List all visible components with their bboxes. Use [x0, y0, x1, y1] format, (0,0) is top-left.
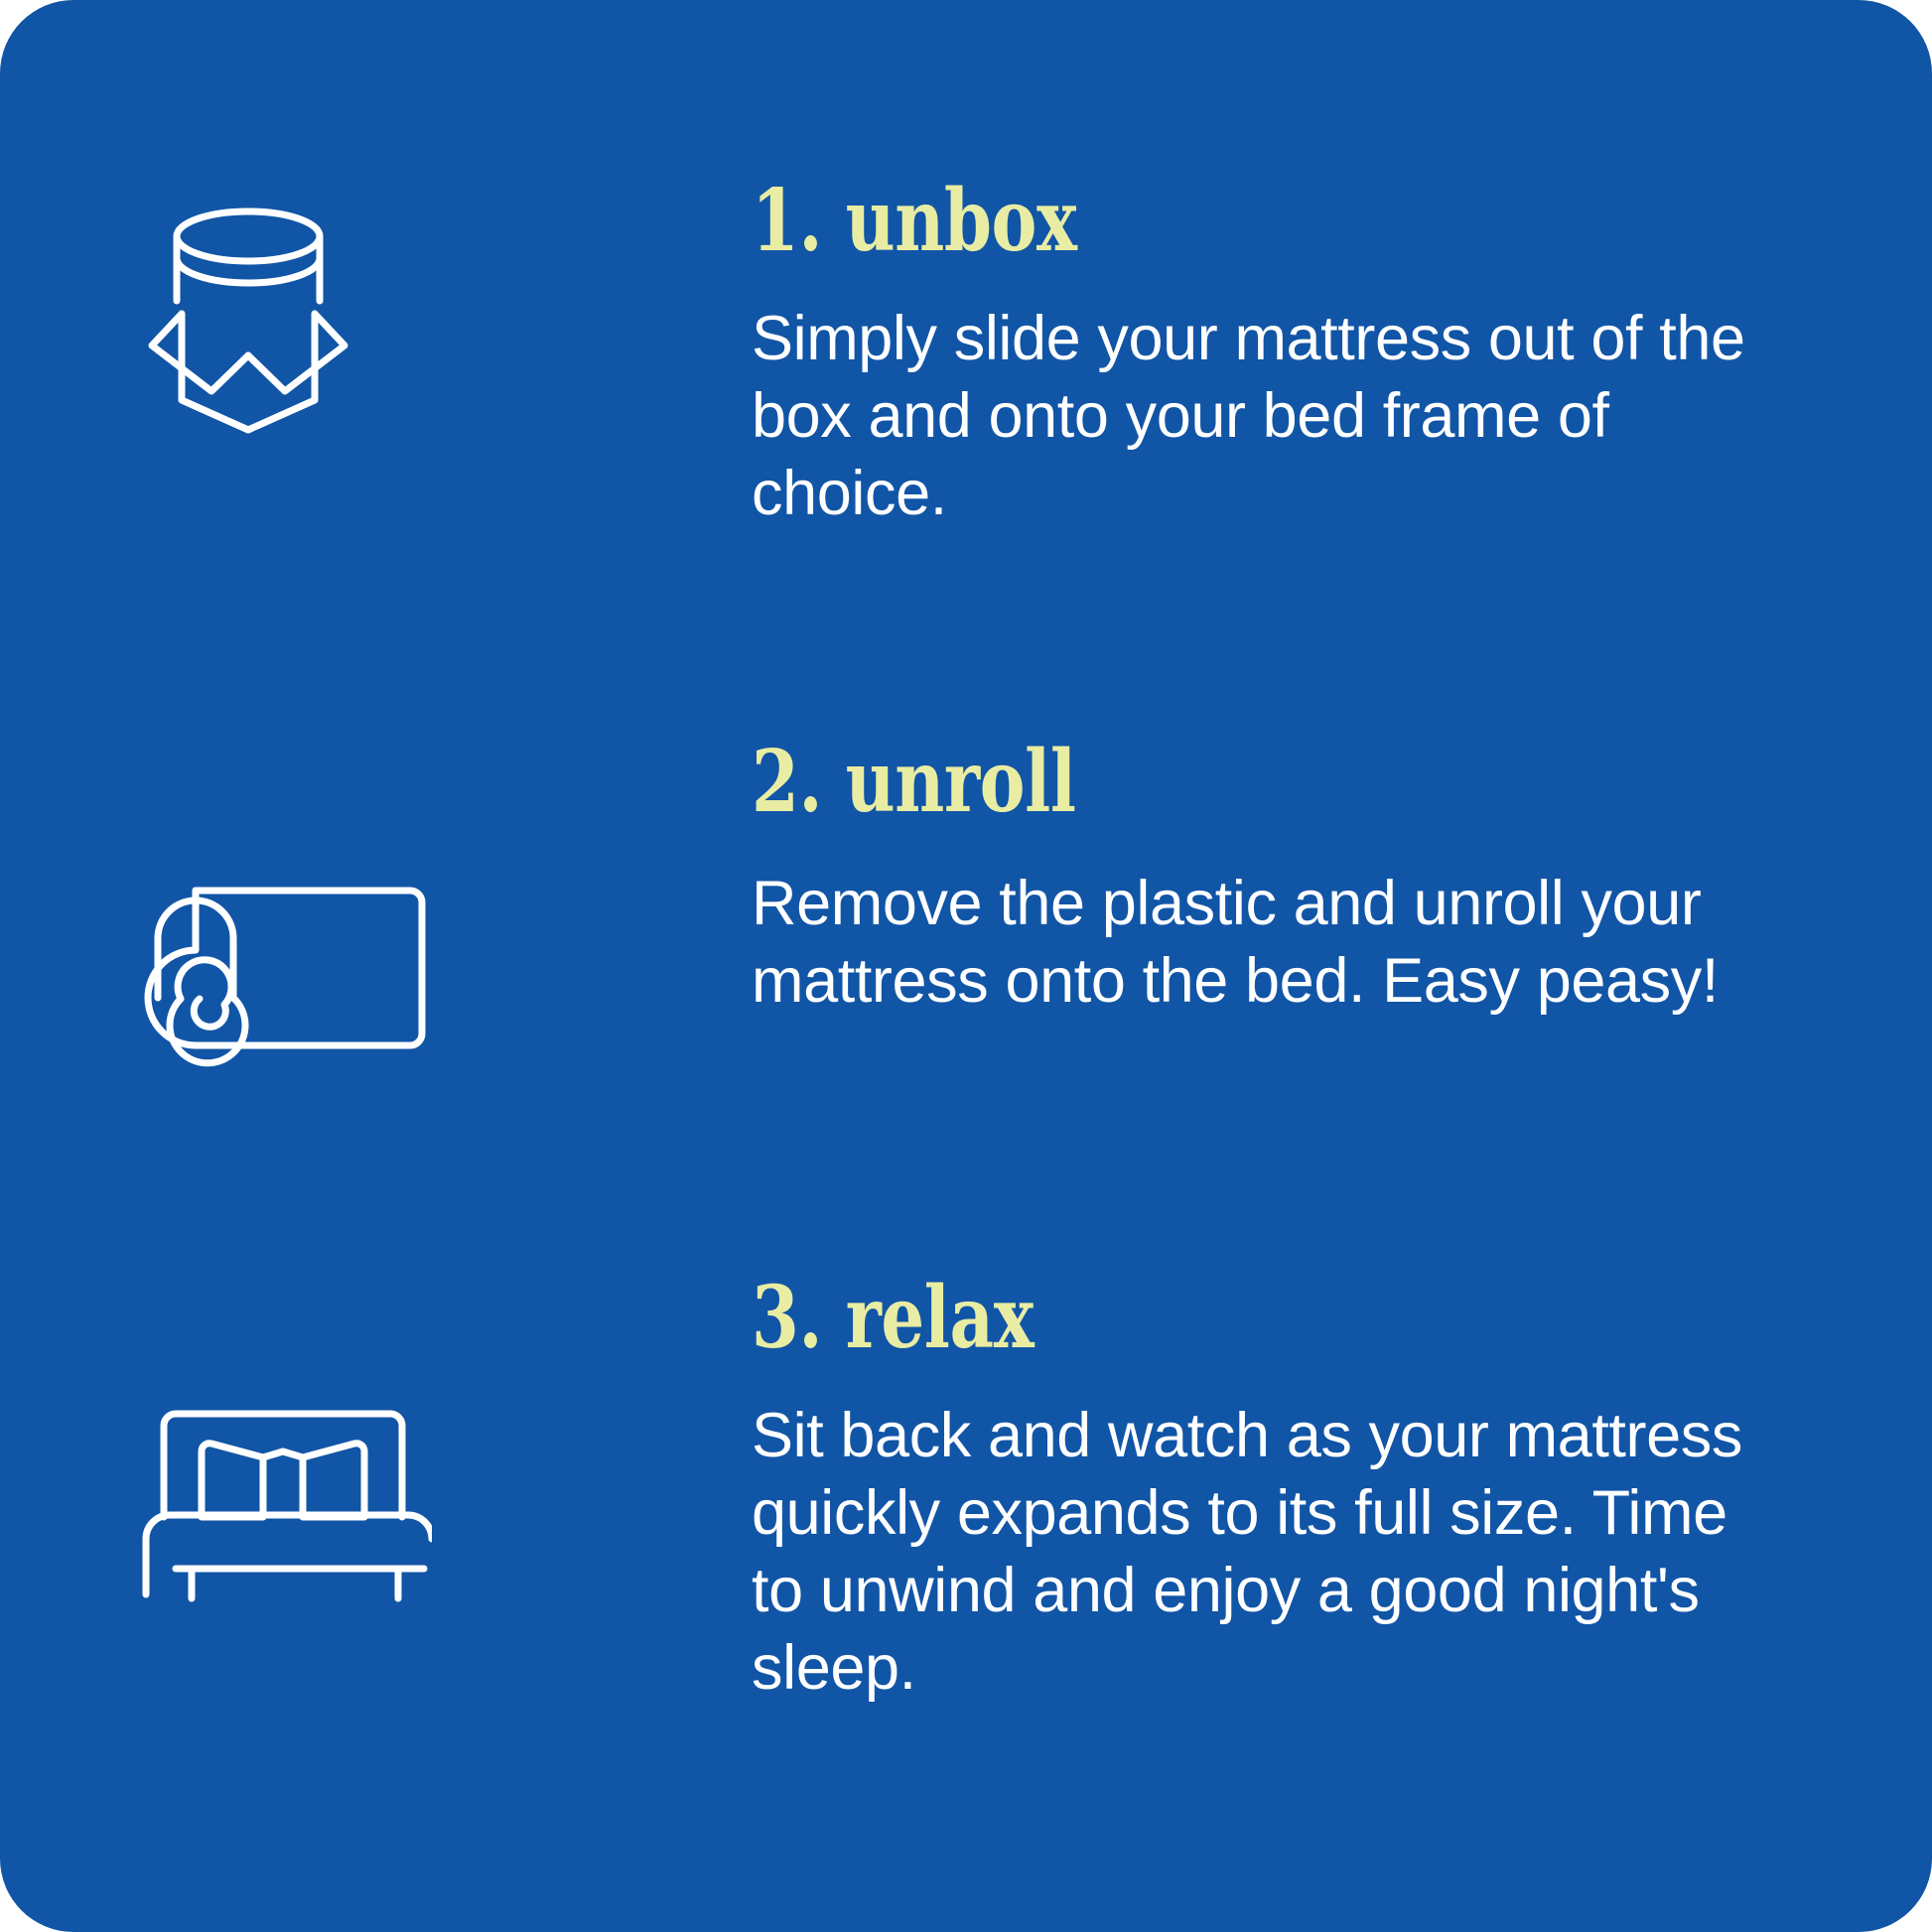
open-box-with-rolled-mattress-icon [134, 197, 362, 440]
step-description: Simply slide your mattress out of the bo… [752, 300, 1784, 532]
step-description: Sit back and watch as your mattress quic… [752, 1397, 1784, 1707]
step-icon-container [134, 199, 482, 437]
step-icon-container [134, 859, 482, 1077]
step-body-unroll: 2. unroll Remove the plastic and unroll … [752, 740, 1804, 1020]
step-item-unbox: 1. unbox Simply slide your mattress out … [0, 0, 1932, 616]
step-title: 1. unbox [752, 179, 1593, 264]
step-title: 2. unroll [752, 740, 1593, 825]
steps-list: 1. unbox Simply slide your mattress out … [0, 0, 1932, 1932]
step-body-unbox: 1. unbox Simply slide your mattress out … [752, 179, 1804, 532]
bed-with-pillows-icon [134, 1400, 432, 1608]
rolled-mattress-unrolling-icon [134, 869, 432, 1067]
step-item-unroll: 2. unroll Remove the plastic and unroll … [0, 695, 1932, 1311]
step-description: Remove the plastic and unroll your mattr… [752, 865, 1784, 1020]
step-title: 3. relax [752, 1276, 1593, 1361]
step-body-relax: 3. relax Sit back and watch as your matt… [752, 1276, 1804, 1707]
step-icon-container [134, 1385, 482, 1623]
step-item-relax: 3. relax Sit back and watch as your matt… [0, 1231, 1932, 1926]
instruction-card: 1. unbox Simply slide your mattress out … [0, 0, 1932, 1932]
